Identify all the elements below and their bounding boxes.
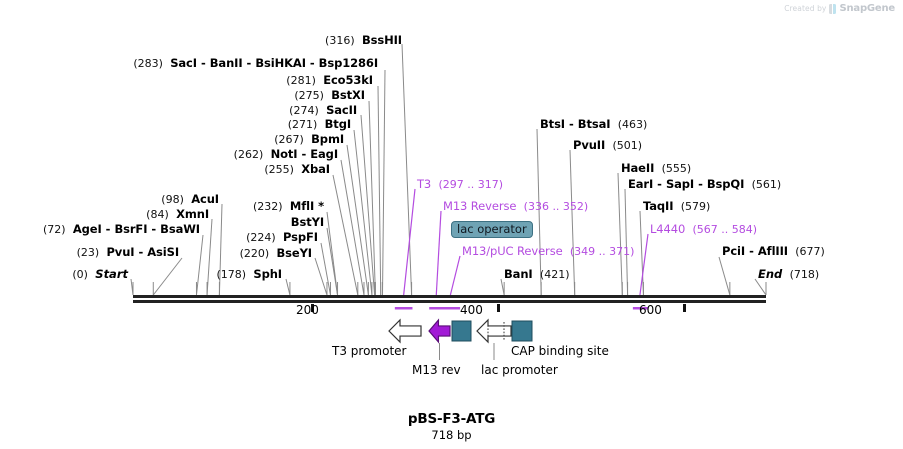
snapgene-map-canvas: Created by SnapGene 200400600T3 promoter…: [0, 0, 903, 449]
enzyme-separator: -: [745, 244, 758, 258]
enzyme-name: BstXI: [331, 88, 365, 102]
enzyme-name: Bsp1286I: [319, 56, 378, 70]
primer-name: M13 Reverse: [443, 199, 516, 213]
primer-label-m13-puc-reverse[interactable]: M13/pUC Reverse (349 .. 371): [462, 246, 634, 257]
enzyme-name: MflI *: [290, 199, 324, 213]
enzyme-position: (255): [264, 163, 294, 176]
enzyme-separator: -: [653, 177, 666, 191]
enzyme-name: SacI: [170, 56, 197, 70]
ruler-tick-label: 600: [639, 303, 662, 317]
enzyme-position: (275): [294, 89, 324, 102]
enzyme-separator: -: [134, 245, 147, 259]
enzyme-position: (561): [752, 178, 782, 191]
enzyme-name: PspFI: [283, 230, 318, 244]
enzyme-position: (271): [288, 118, 318, 131]
enzyme-name: BanII: [210, 56, 243, 70]
enzyme-position: (579): [681, 200, 711, 213]
enzyme-position: (262): [234, 148, 264, 161]
enzyme-name: AflIII: [758, 244, 788, 258]
enzyme-position: (178): [217, 268, 247, 281]
enzyme-position: (283): [133, 57, 163, 70]
enzyme-label-eari[interactable]: EarI - SapI - BspQI (561): [628, 179, 781, 190]
enzyme-name: BstYI: [291, 215, 324, 229]
enzyme-position: (677): [795, 245, 825, 258]
enzyme-name: EagI: [310, 147, 338, 161]
enzyme-separator: -: [694, 177, 707, 191]
enzyme-name: SphI: [253, 267, 282, 281]
enzyme-name: PvuI: [106, 245, 134, 259]
enzyme-position: (267): [274, 133, 304, 146]
enzyme-position: (23): [77, 246, 100, 259]
enzyme-separator: -: [565, 117, 578, 131]
enzyme-name: TaqII: [643, 199, 673, 213]
plasmid-length: 718 bp: [0, 428, 903, 442]
enzyme-label-pvui[interactable]: (23) PvuI - AsiSI: [0, 247, 179, 258]
enzyme-label-bsshii[interactable]: (316) BssHII: [0, 35, 402, 46]
enzyme-separator: -: [306, 56, 319, 70]
enzyme-label-taqii[interactable]: TaqII (579): [643, 201, 710, 212]
enzyme-label-bpmi[interactable]: (267) BpmI: [0, 134, 344, 145]
enzyme-name: AsiSI: [147, 245, 179, 259]
terminus-position: (718): [790, 268, 820, 281]
primer-name: T3: [417, 177, 431, 191]
enzyme-name: HaeII: [621, 161, 654, 175]
enzyme-position: (220): [240, 247, 270, 260]
enzyme-label-noti[interactable]: (262) NotI - EagI: [0, 149, 338, 160]
enzyme-position: (463): [618, 118, 648, 131]
enzyme-position: (316): [325, 34, 355, 47]
enzyme-name: BseYI: [276, 246, 312, 260]
enzyme-position: (232): [253, 200, 283, 213]
enzyme-name: SapI: [666, 177, 694, 191]
feature-m13-rev[interactable]: [429, 320, 450, 342]
enzyme-label-bstxi[interactable]: (275) BstXI: [0, 90, 365, 101]
primer-range: (336 .. 352): [524, 200, 589, 213]
primer-label-l4440[interactable]: L4440 (567 .. 584): [650, 224, 757, 235]
primer-range: (349 .. 371): [570, 245, 635, 258]
sequence-ruler: [133, 282, 766, 312]
feature-cap-binding-site[interactable]: [512, 321, 532, 341]
enzyme-position: (555): [662, 162, 692, 175]
enzyme-label-xbai[interactable]: (255) XbaI: [0, 164, 330, 175]
ruler-tick-label: 200: [296, 303, 319, 317]
enzyme-name: BtsaI: [578, 117, 611, 131]
primer-label-t3[interactable]: T3 (297 .. 317): [417, 179, 503, 190]
terminus-label-start[interactable]: (0) Start: [0, 269, 128, 280]
lac-operator-pill[interactable]: lac operator: [451, 221, 533, 238]
enzyme-name: XbaI: [301, 162, 330, 176]
terminus-name: Start: [95, 267, 128, 281]
primer-range: (567 .. 584): [693, 223, 758, 236]
terminus-name: End: [758, 267, 782, 281]
enzyme-position: (274): [289, 104, 319, 117]
enzyme-label-pcii[interactable]: PciI - AflIII (677): [722, 246, 825, 257]
ruler-tick-label: 400: [460, 303, 483, 317]
feature-caption-m13-rev: M13 rev: [412, 363, 461, 377]
enzyme-name: PvuII: [573, 138, 605, 152]
enzyme-position: (501): [612, 139, 642, 152]
enzyme-label-sacii[interactable]: (274) SacII: [0, 105, 357, 116]
enzyme-name: BspQI: [707, 177, 744, 191]
enzyme-name: Eco53kI: [323, 73, 373, 87]
feature-caption-cap-binding-site: CAP binding site: [511, 344, 609, 358]
enzyme-label-pspfi[interactable]: (224) PspFI: [0, 232, 318, 243]
feature-caption-lac-promoter: lac promoter: [481, 363, 558, 377]
enzyme-name: SacII: [326, 103, 357, 117]
enzyme-name: BsiHKAI: [255, 56, 306, 70]
enzyme-label-pvuii[interactable]: PvuII (501): [573, 140, 642, 151]
enzyme-label-saci[interactable]: (283) SacI - BanII - BsiHKAI - Bsp1286I: [0, 58, 378, 69]
enzyme-label-btgi[interactable]: (271) BtgI: [0, 119, 351, 130]
enzyme-label-eco53ki[interactable]: (281) Eco53kI: [0, 75, 373, 86]
enzyme-position: (281): [286, 74, 316, 87]
enzyme-name: BssHII: [362, 33, 402, 47]
terminus-position: (0): [72, 268, 88, 281]
enzyme-label-haeii[interactable]: HaeII (555): [621, 163, 691, 174]
primer-range: (297 .. 317): [438, 178, 503, 191]
enzyme-name: PciI: [722, 244, 745, 258]
enzyme-position: (421): [540, 268, 570, 281]
enzyme-name: BpmI: [311, 132, 344, 146]
enzyme-label-bani[interactable]: BanI (421): [504, 269, 570, 280]
feature-t3-promoter[interactable]: [389, 320, 421, 342]
primer-label-m13-reverse[interactable]: M13 Reverse (336 .. 352): [443, 201, 588, 212]
enzyme-label-btsi[interactable]: BtsI - BtsaI (463): [540, 119, 647, 130]
feature-caption-t3-promoter: T3 promoter: [332, 344, 406, 358]
enzyme-name: BtgI: [325, 117, 351, 131]
primer-name: L4440: [650, 222, 685, 236]
enzyme-separator: -: [197, 56, 210, 70]
enzyme-separator: -: [243, 56, 256, 70]
enzyme-name: BanI: [504, 267, 533, 281]
feature-lac-operator[interactable]: [452, 321, 471, 341]
feature-lac-promoter[interactable]: [477, 320, 511, 342]
enzyme-position: (224): [246, 231, 276, 244]
page-title: pBS-F3-ATG: [0, 411, 903, 427]
terminus-label-end[interactable]: End (718): [758, 269, 819, 280]
enzyme-name: BtsI: [540, 117, 565, 131]
enzyme-separator: -: [297, 147, 310, 161]
enzyme-name: NotI: [271, 147, 298, 161]
primer-name: M13/pUC Reverse: [462, 244, 563, 258]
enzyme-name: EarI: [628, 177, 653, 191]
